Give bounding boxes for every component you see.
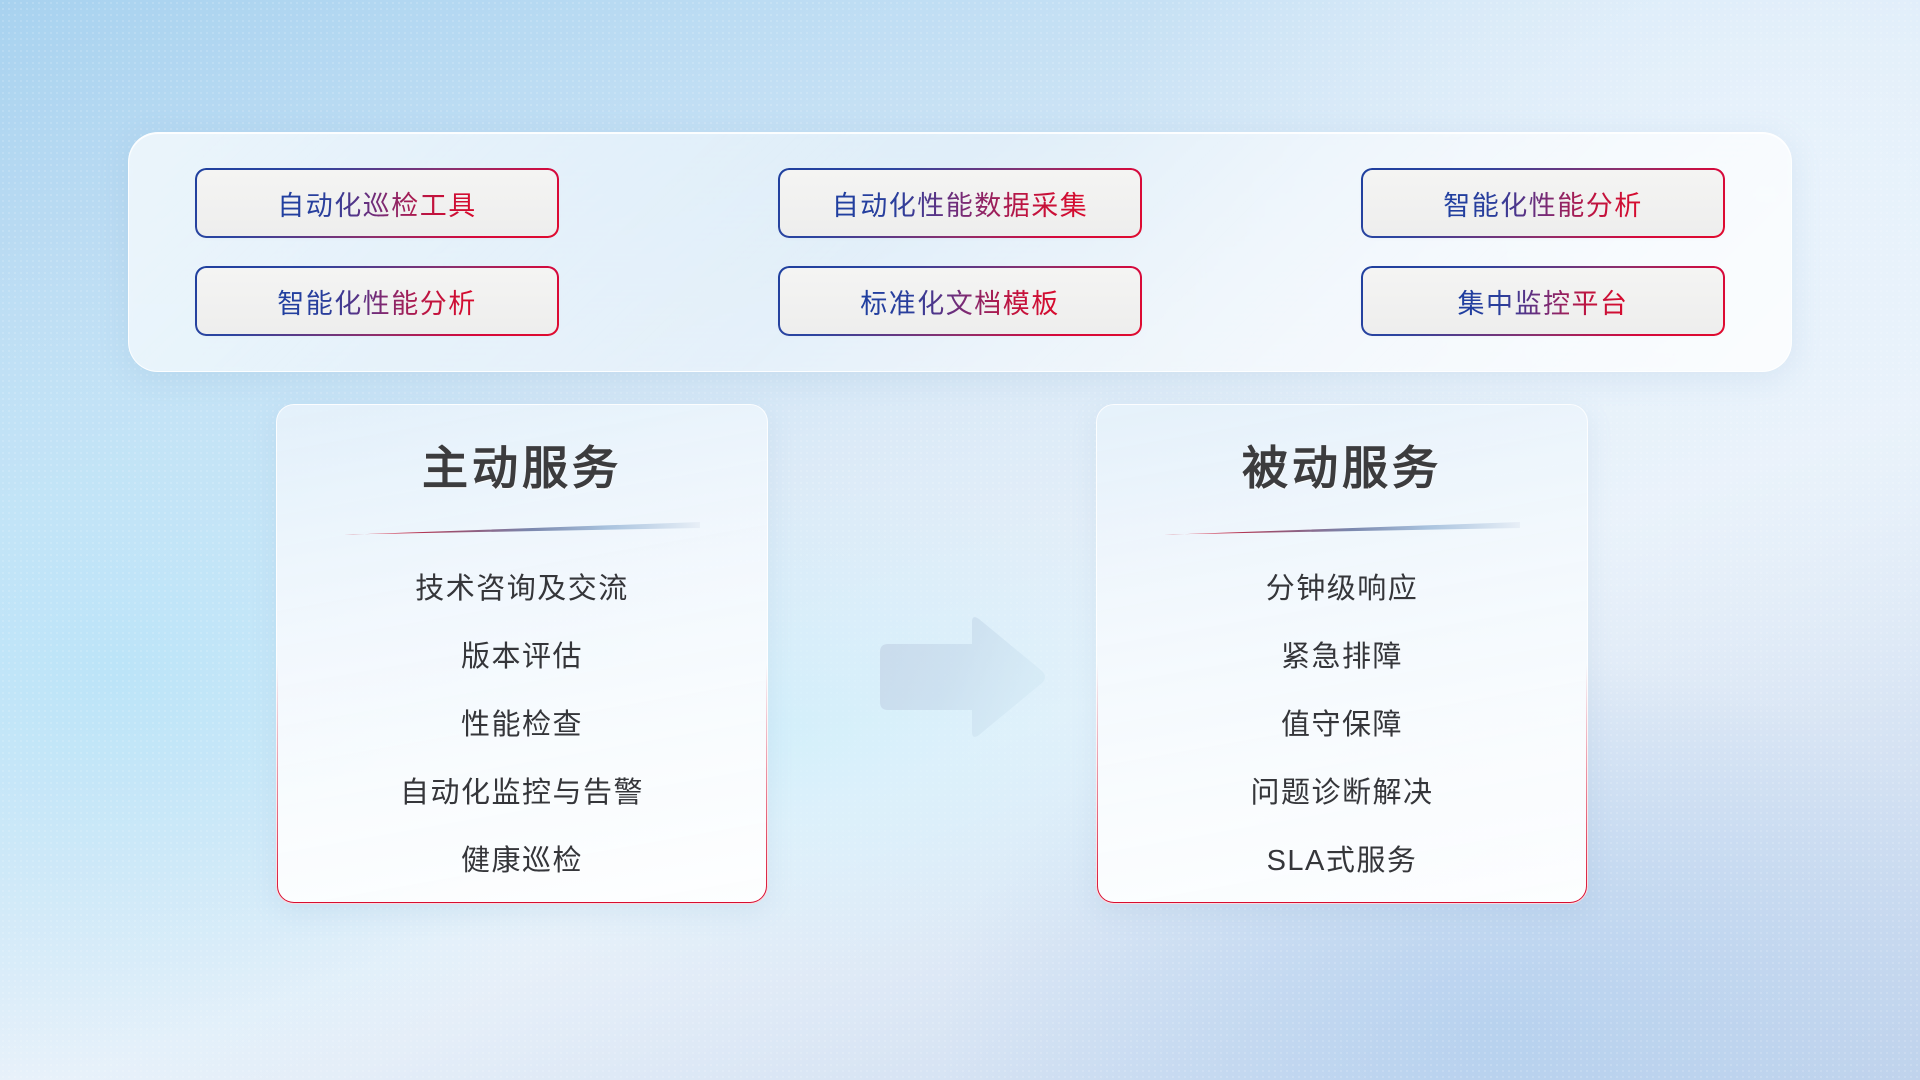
capability-pill-label: 自动化巡检工具: [277, 184, 477, 223]
capability-panel: 自动化巡检工具 自动化性能数据采集 智能化性能分析 智能化性能分析 标准化文档模…: [128, 132, 1792, 372]
capability-pill-label: 智能化性能分析: [1443, 184, 1643, 223]
list-item: 自动化监控与告警: [400, 769, 644, 811]
title-underline-accent: [1164, 522, 1520, 535]
list-item: 版本评估: [461, 633, 583, 675]
capability-pill-label: 标准化文档模板: [860, 282, 1060, 321]
capability-pill[interactable]: 集中监控平台: [1363, 268, 1723, 334]
slide-canvas: 自动化巡检工具 自动化性能数据采集 智能化性能分析 智能化性能分析 标准化文档模…: [0, 0, 1920, 1080]
list-item: 分钟级响应: [1266, 565, 1419, 607]
service-card-reactive: 被动服务 分钟级响应 紧急排障 值守保障: [1096, 404, 1588, 904]
list-item: SLA式服务: [1267, 837, 1418, 879]
arrow-right-icon: [872, 614, 1048, 740]
service-card-proactive: 主动服务 技术咨询及交流 版本评估 性能检查: [276, 404, 768, 904]
capability-row-1: 自动化巡检工具 自动化性能数据采集 智能化性能分析: [197, 170, 1723, 236]
capability-pill[interactable]: 自动化性能数据采集: [780, 170, 1140, 236]
list-item: 健康巡检: [461, 837, 583, 879]
capability-pill[interactable]: 智能化性能分析: [1363, 170, 1723, 236]
list-item: 值守保障: [1281, 701, 1403, 743]
capability-pill-label: 自动化性能数据采集: [832, 184, 1089, 223]
list-item: 问题诊断解决: [1250, 769, 1433, 811]
capability-pill-label: 智能化性能分析: [277, 282, 477, 321]
title-underline-accent: [344, 522, 700, 535]
capability-pill[interactable]: 智能化性能分析: [197, 268, 557, 334]
service-card-title: 被动服务: [1096, 432, 1588, 498]
list-item: 紧急排障: [1281, 633, 1403, 675]
capability-pill-label: 集中监控平台: [1458, 282, 1629, 321]
service-card-list: 分钟级响应 紧急排障 值守保障 问题诊断解决 SLA式服务: [1096, 565, 1588, 879]
list-item: 技术咨询及交流: [415, 565, 629, 607]
service-card-title: 主动服务: [276, 432, 768, 498]
capability-row-2: 智能化性能分析 标准化文档模板 集中监控平台: [197, 268, 1723, 334]
service-card-list: 技术咨询及交流 版本评估 性能检查 自动化监控与告警 健康巡检: [276, 565, 768, 879]
capability-pill[interactable]: 标准化文档模板: [780, 268, 1140, 334]
list-item: 性能检查: [461, 701, 583, 743]
capability-pill[interactable]: 自动化巡检工具: [197, 170, 557, 236]
